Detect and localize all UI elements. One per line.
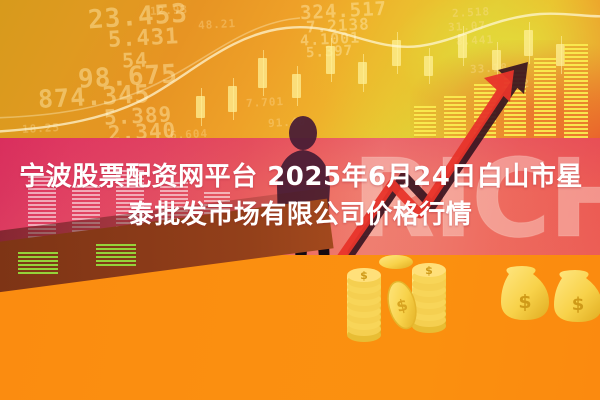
money-bag-right: $	[554, 270, 600, 322]
coin-stack-right: $	[412, 263, 446, 333]
small-coin-top	[379, 255, 413, 269]
svg-text:$: $	[425, 264, 433, 277]
coin-stack-left: $	[347, 268, 381, 342]
title-line-1: 宁波股票配资网平台 2025年6月24日白山市星	[0, 158, 600, 196]
poster-title: 宁波股票配资网平台 2025年6月24日白山市星 泰批发市场有限公司价格行情	[0, 158, 600, 234]
svg-text:$: $	[572, 294, 585, 315]
poster-canvas: 23.4535.4315498.675874.3455.3892.340324.…	[0, 0, 600, 400]
money-bag-left: $	[501, 266, 549, 320]
svg-text:$: $	[360, 269, 368, 282]
svg-text:$: $	[518, 291, 531, 313]
title-line-2: 泰批发市场有限公司价格行情	[0, 196, 600, 234]
